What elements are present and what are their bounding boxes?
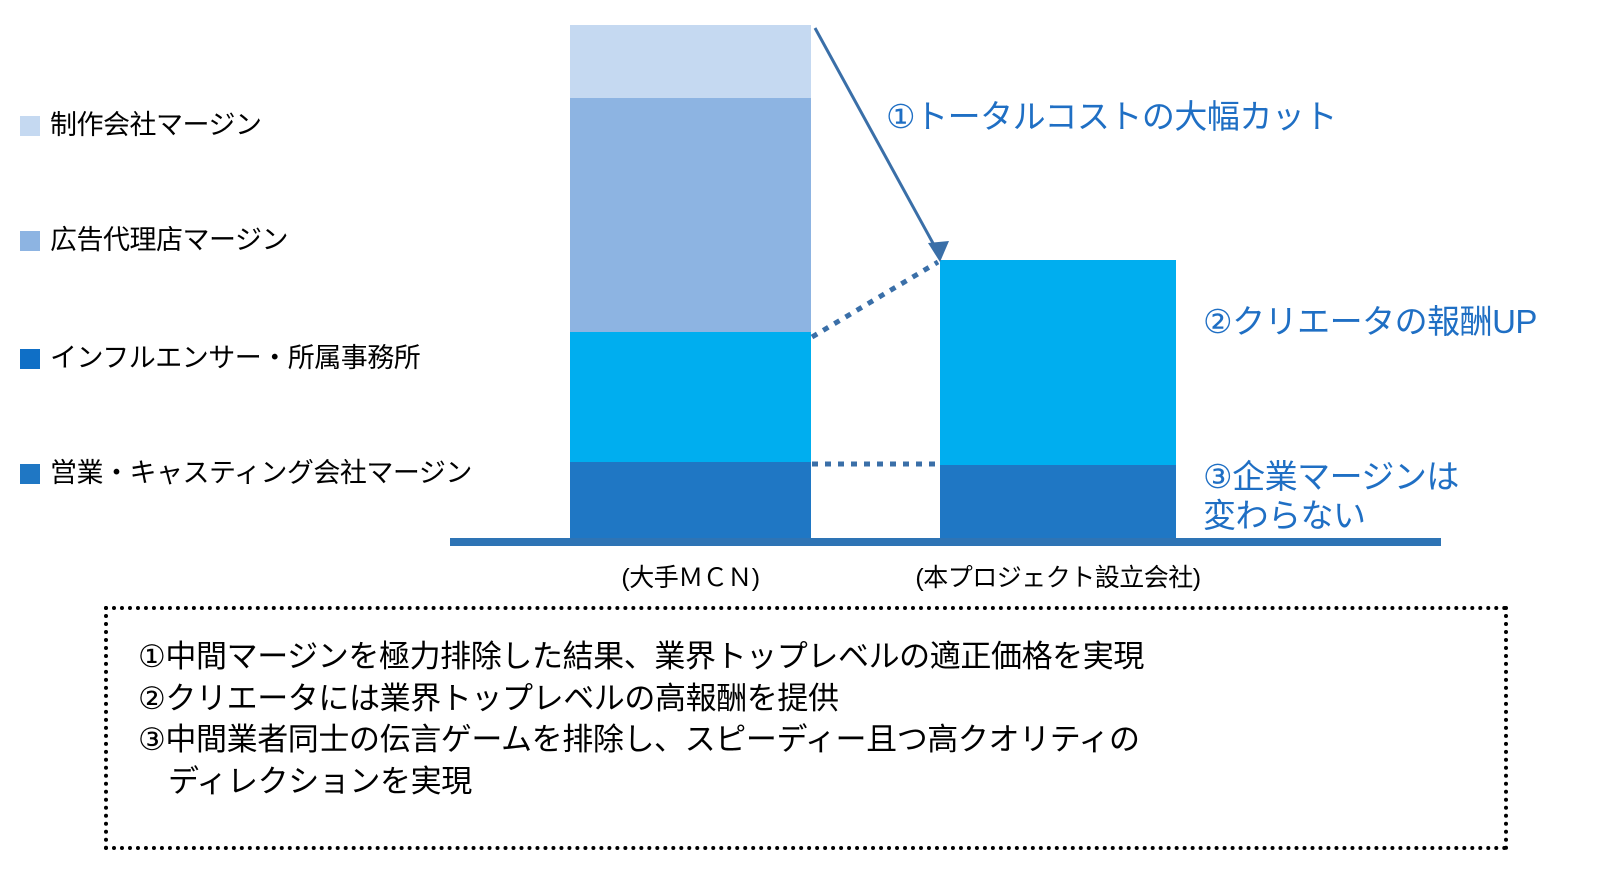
callout-company-margin-unchanged: ③企業マージンは 変わらない <box>1203 458 1459 536</box>
arrow-head-total-cost-cut <box>928 241 949 262</box>
xaxis-label-major-mcn: (大手ＭＣＮ) <box>570 558 811 594</box>
callout-total-cost-cut: ①トータルコストの大幅カット <box>886 98 1337 137</box>
note-line-3: ③中間業者同士の伝言ゲームを排除し、スピーディー且つ高クオリティの <box>138 719 1504 761</box>
note-line-2: ②クリエータには業界トップレベルの高報酬を提供 <box>138 678 1504 720</box>
xaxis-label-project-company: (本プロジェクト設立会社) <box>880 558 1236 594</box>
callout-creator-reward-up: ②クリエータの報酬UP <box>1203 303 1537 342</box>
dotted-connector-upper <box>812 262 938 337</box>
summary-note-box: ①中間マージンを極力排除した結果、業界トップレベルの適正価格を実現 ②クリエータ… <box>104 606 1508 850</box>
note-line-4: ディレクションを実現 <box>138 761 1504 803</box>
slide-canvas: 制作会社マージン 広告代理店マージン インフルエンサー・所属事務所 営業・キャス… <box>0 0 1624 886</box>
note-line-1: ①中間マージンを極力排除した結果、業界トップレベルの適正価格を実現 <box>138 636 1504 678</box>
arrow-total-cost-cut <box>815 28 940 256</box>
